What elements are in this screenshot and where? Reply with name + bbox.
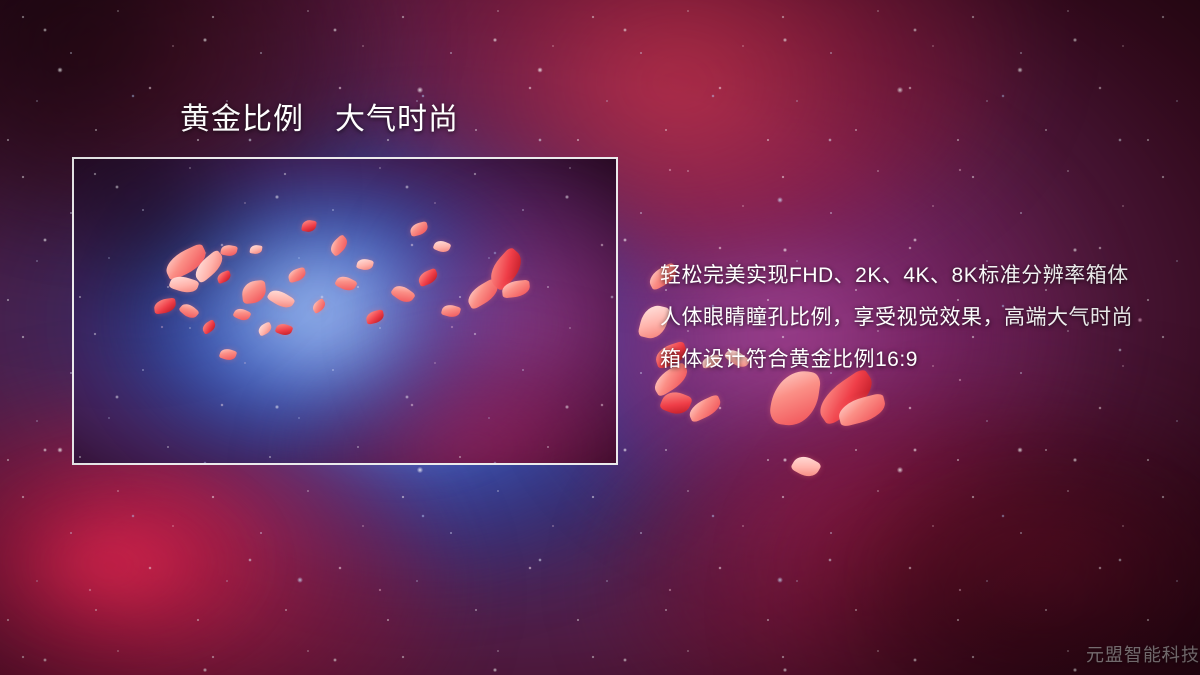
description-line: 轻松完美实现FHD、2K、4K、8K标准分辨率箱体 — [660, 255, 1180, 297]
description-line: 箱体设计符合黄金比例16:9 — [660, 339, 1180, 381]
watermark: 元盟智能科技 — [1086, 641, 1200, 667]
description-text: 轻松完美实现FHD、2K、4K、8K标准分辨率箱体 人体眼睛瞳孔比例，享受视觉效… — [660, 255, 1180, 381]
description-line: 人体眼睛瞳孔比例，享受视觉效果，高端大气时尚 — [660, 297, 1180, 339]
image-frame[interactable] — [72, 157, 618, 465]
page-title: 黄金比例 大气时尚 — [180, 102, 459, 138]
presentation-slide: 黄金比例 大气时尚 轻松完美实现FHD、2K、4K、8K标准分辨率箱体 人体眼睛… — [0, 0, 1200, 675]
